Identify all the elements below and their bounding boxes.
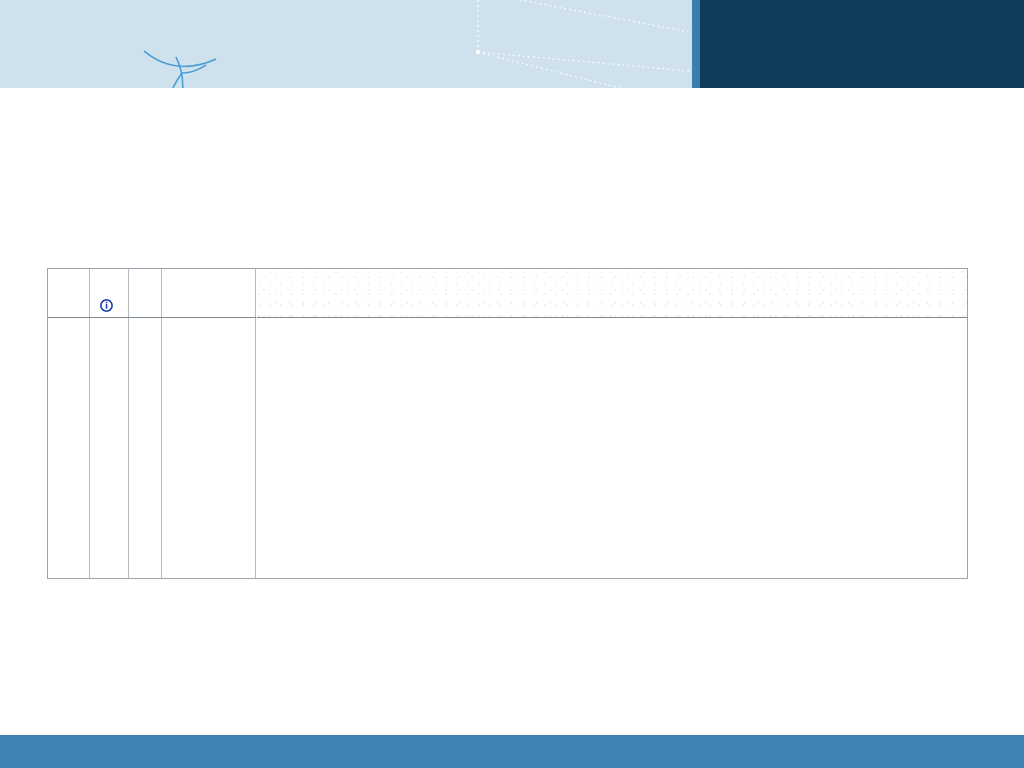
page-header — [0, 0, 1024, 88]
timeline-day-row — [257, 303, 967, 317]
task-table-header — [48, 269, 256, 318]
gantt-timeline — [257, 269, 967, 578]
timeline-week-row — [257, 288, 967, 303]
software-people-logo — [22, 18, 362, 74]
timeline-body — [257, 318, 967, 578]
header-left-panel — [0, 0, 700, 88]
gantt-task-table — [48, 269, 256, 578]
logo-swirl-icon — [142, 43, 262, 88]
footer-bar — [0, 735, 1024, 768]
header-accent-strip — [692, 0, 700, 88]
timeline-header — [257, 269, 967, 318]
info-icon — [100, 299, 113, 312]
header-right-panel — [700, 0, 1024, 88]
gantt-chart — [47, 268, 968, 579]
